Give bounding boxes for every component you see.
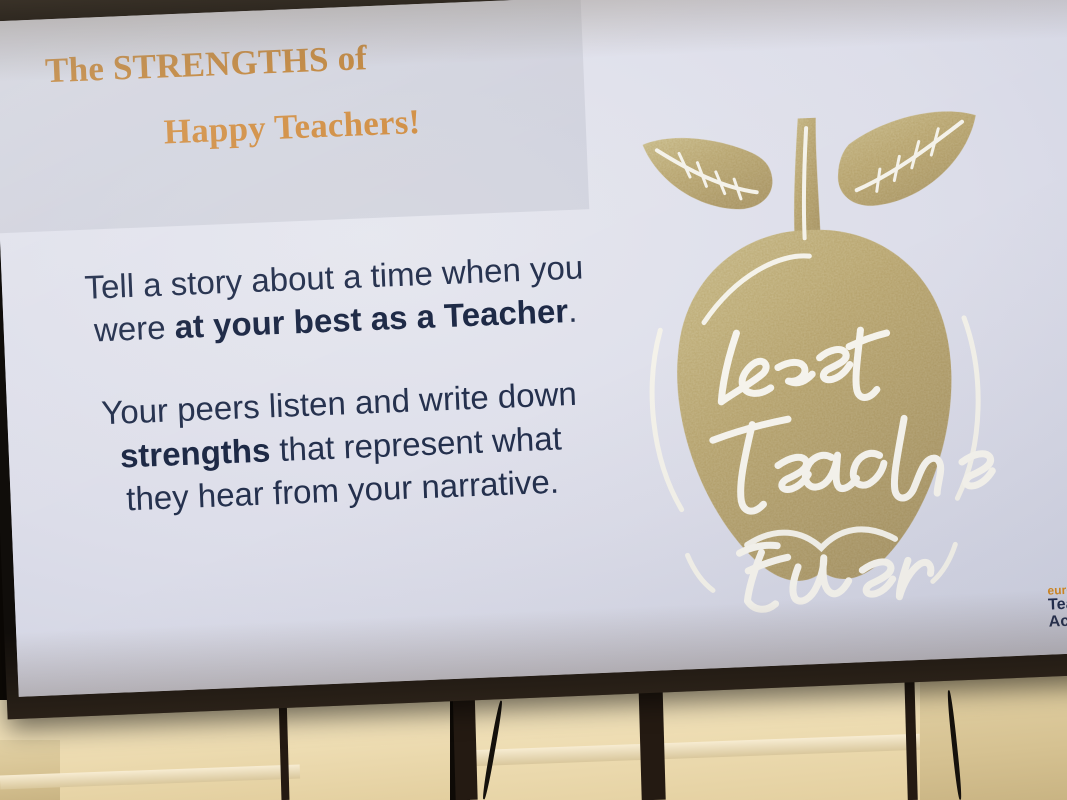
title-line-2: Happy Teachers! [0, 99, 526, 156]
slide-body-text: Tell a story about a time when you were … [79, 245, 597, 522]
paragraph-2-emphasis: strengths [119, 431, 271, 474]
apple-gold-body [642, 110, 995, 586]
slide-title: The STRENGTHS of Happy Teachers! [0, 34, 527, 187]
europass-logo: europass Teacher Academy [1047, 582, 1067, 631]
title-line-1: The STRENGTHS of [0, 34, 523, 91]
apple-illustration [602, 72, 1024, 628]
window-pane-lower-left-dim [0, 740, 60, 800]
logo-brand-text: europass [1047, 582, 1067, 597]
paragraph-1-text-tail: . [567, 292, 578, 329]
presentation-slide: The STRENGTHS of Happy Teachers! Tell a … [0, 0, 1067, 697]
body-paragraph-1: Tell a story about a time when you were … [79, 245, 590, 352]
tv-screen: The STRENGTHS of Happy Teachers! Tell a … [0, 0, 1067, 697]
television: The STRENGTHS of Happy Teachers! Tell a … [0, 0, 1067, 719]
window-mullion-lower-b [638, 676, 665, 800]
window-pane-lower-far-right [920, 672, 1067, 800]
body-paragraph-2: Your peers listen and write down strengt… [84, 372, 597, 522]
paragraph-1-emphasis: at your best as a Teacher [174, 292, 569, 345]
logo-line-teacher: Teacher [1048, 595, 1067, 614]
logo-line-academy: Academy [1048, 611, 1067, 630]
title-band: The STRENGTHS of Happy Teachers! [0, 0, 589, 233]
